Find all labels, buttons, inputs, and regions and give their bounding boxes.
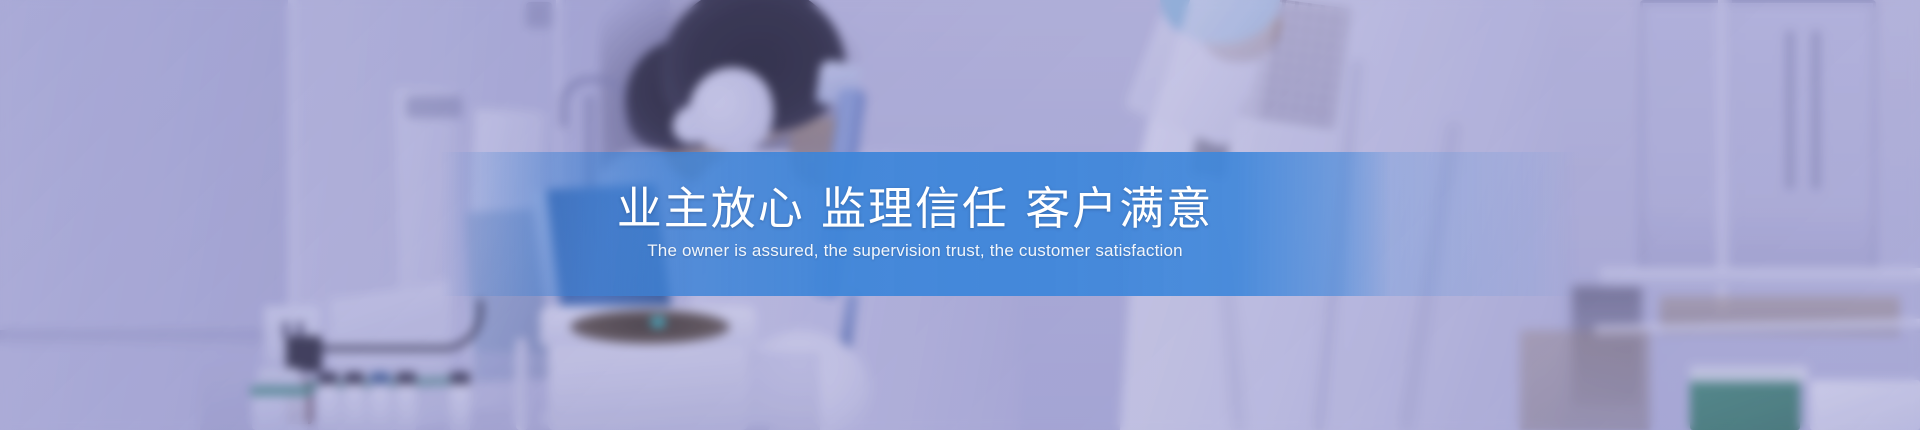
sample-vial	[318, 384, 338, 430]
hero-banner: 业主放心 监理信任 客户满意 The owner is assured, the…	[0, 0, 1920, 430]
wall-bracket	[406, 96, 462, 118]
sample-indicator	[650, 316, 666, 328]
sample-vial	[344, 384, 364, 430]
faucet-icon	[560, 76, 630, 127]
sample-vial	[370, 384, 390, 430]
green-box-lid	[1690, 366, 1808, 382]
banner-subheadline: The owner is assured, the supervision tr…	[647, 241, 1183, 261]
window-bar	[1786, 30, 1794, 190]
sample-vial	[450, 384, 470, 430]
white-supply-box	[1810, 380, 1920, 430]
window-bar	[1812, 30, 1820, 190]
centrifuge-rotor-well	[566, 306, 734, 348]
power-cable	[318, 300, 483, 351]
banner-text-block: 业主放心 监理信任 客户满意 The owner is assured, the…	[440, 152, 1390, 296]
banner-headline: 业主放心 监理信任 客户满意	[617, 186, 1214, 233]
window-sill	[1600, 268, 1920, 286]
lab-stand-rod	[516, 338, 528, 430]
cardboard-carton	[1520, 330, 1650, 430]
sample-vial	[396, 384, 416, 430]
power-plug	[286, 336, 322, 372]
ceiling-bracket	[526, 2, 552, 28]
reagent-bottle-cap	[258, 368, 300, 388]
window-mullion	[1718, 0, 1732, 310]
window-frame	[1640, 0, 1876, 276]
bottle-label-ring	[250, 386, 312, 396]
